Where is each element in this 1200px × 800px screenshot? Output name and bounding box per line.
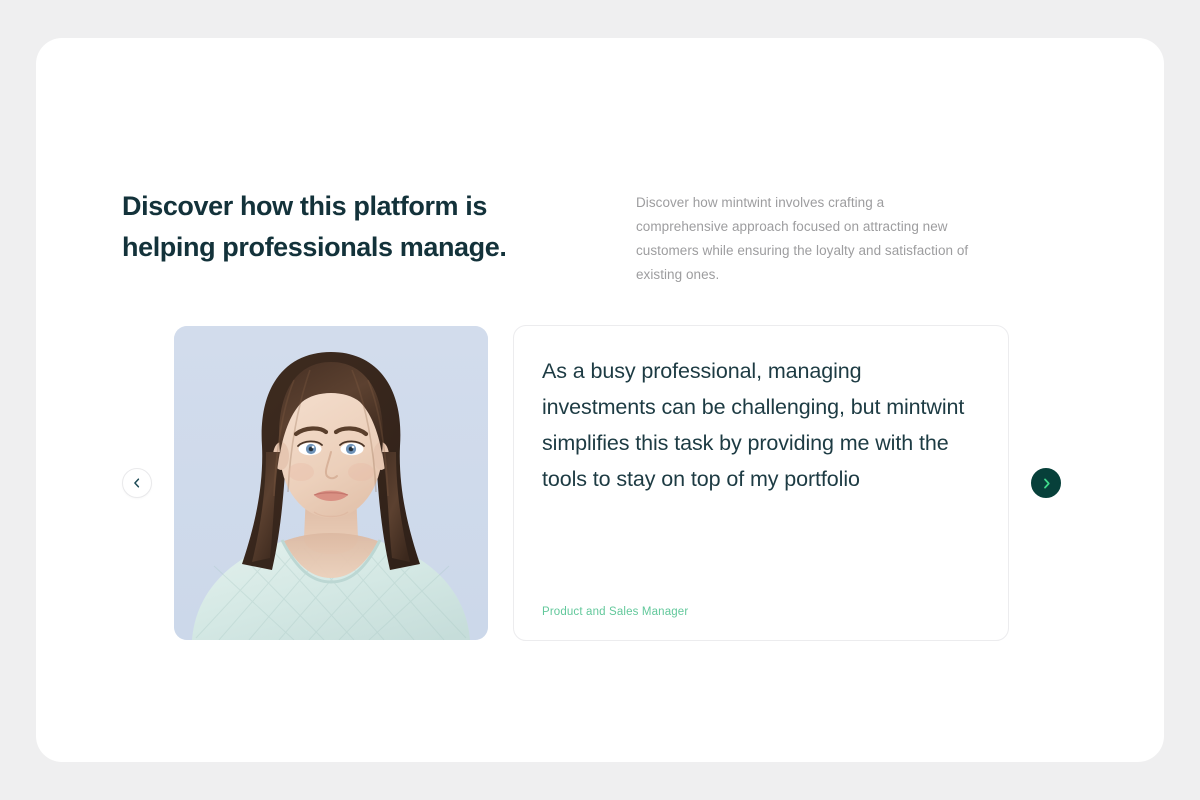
page-title-line-2: helping professionals manage. xyxy=(122,227,552,268)
slider-prev-button[interactable] xyxy=(122,468,152,498)
page-title: Discover how this platform is helping pr… xyxy=(122,186,552,268)
slider-next-button[interactable] xyxy=(1031,468,1061,498)
testimonial-quote: As a busy professional, managing investm… xyxy=(542,353,980,497)
testimonial-photo xyxy=(174,326,488,640)
testimonial-card: As a busy professional, managing investm… xyxy=(513,325,1009,641)
section-header: Discover how this platform is helping pr… xyxy=(122,186,1122,287)
chevron-left-icon xyxy=(131,477,143,489)
chevron-right-icon xyxy=(1040,477,1053,490)
testimonial-role: Product and Sales Manager xyxy=(542,604,688,620)
screen: Discover how this platform is helping pr… xyxy=(0,0,1200,800)
content-panel: Discover how this platform is helping pr… xyxy=(36,38,1164,762)
testimonial-slider: As a busy professional, managing investm… xyxy=(122,303,1122,663)
page-title-line-1: Discover how this platform is xyxy=(122,186,552,227)
section-intro-text: Discover how mintwint involves crafting … xyxy=(552,186,976,287)
